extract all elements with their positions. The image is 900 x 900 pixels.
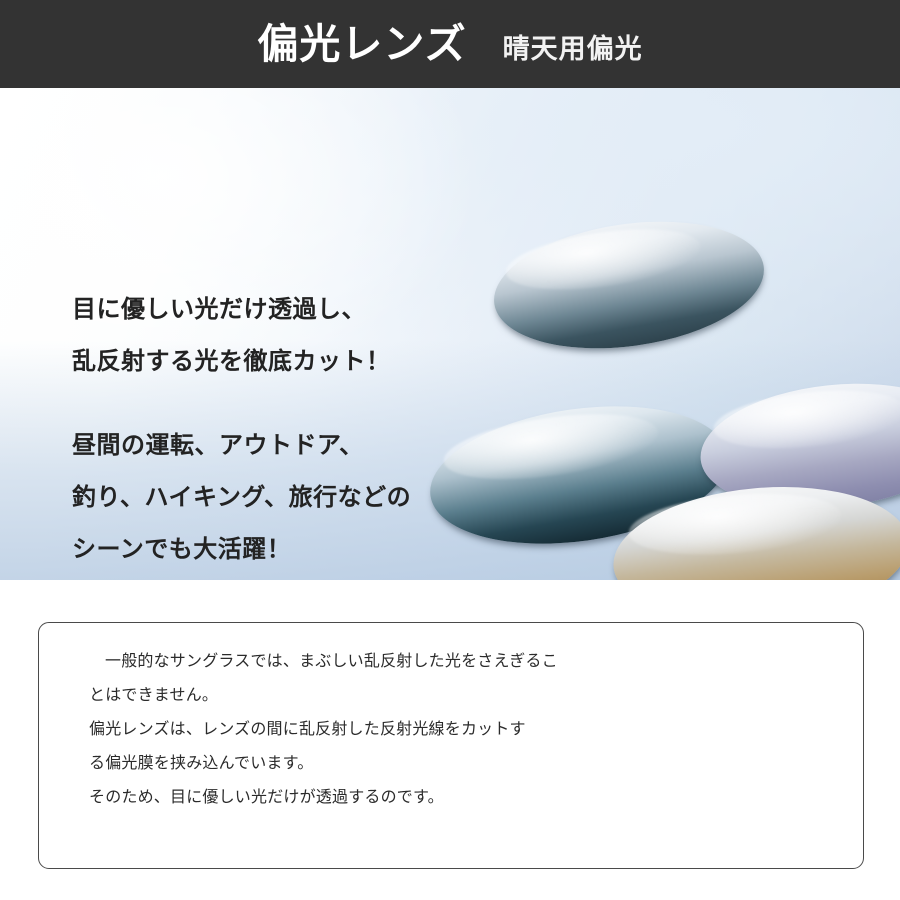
explanation-line: そのため、目に優しい光だけが透過するのです。 bbox=[89, 781, 569, 815]
explanation-line: 偏光レンズは、レンズの間に乱反射した反射光線をカットす bbox=[89, 713, 569, 747]
explanation-line: 一般的なサングラスでは、まぶしい乱反射した光をさえぎるこ bbox=[89, 645, 569, 679]
hero-photo-panel: 目に優しい光だけ透過し、 乱反射する光を徹底カット！ 昼間の運転、アウトドア、 … bbox=[0, 88, 900, 580]
page-subtitle: 晴天用偏光 bbox=[503, 36, 643, 63]
hero-copy-line: 目に優しい光だけ透過し、 bbox=[72, 284, 472, 336]
explanation-box: 一般的なサングラスでは、まぶしい乱反射した光をさえぎるこ とはできません。 偏光… bbox=[38, 622, 864, 869]
hero-copy-line: 釣り、ハイキング、旅行などの bbox=[72, 472, 472, 524]
hero-copy-block-2: 昼間の運転、アウトドア、 釣り、ハイキング、旅行などの シーンでも大活躍！ bbox=[72, 420, 472, 576]
header-title-group: 偏光レンズ 晴天用偏光 bbox=[257, 24, 642, 65]
explanation-line: とはできません。 bbox=[89, 679, 569, 713]
product-feature-page: 偏光レンズ 晴天用偏光 目に優しい光だけ透過し、 bbox=[0, 0, 900, 900]
hero-copy-line: シーンでも大活躍！ bbox=[72, 524, 472, 576]
hero-copy: 目に優しい光だけ透過し、 乱反射する光を徹底カット！ 昼間の運転、アウトドア、 … bbox=[72, 284, 472, 576]
hero-copy-line: 昼間の運転、アウトドア、 bbox=[72, 420, 472, 472]
hero-copy-line: 乱反射する光を徹底カット！ bbox=[72, 336, 472, 388]
explanation-line: る偏光膜を挟み込んでいます。 bbox=[89, 747, 569, 781]
page-header: 偏光レンズ 晴天用偏光 bbox=[0, 0, 900, 88]
page-title: 偏光レンズ bbox=[257, 24, 466, 65]
explanation-text: 一般的なサングラスでは、まぶしい乱反射した光をさえぎるこ とはできません。 偏光… bbox=[89, 645, 569, 815]
